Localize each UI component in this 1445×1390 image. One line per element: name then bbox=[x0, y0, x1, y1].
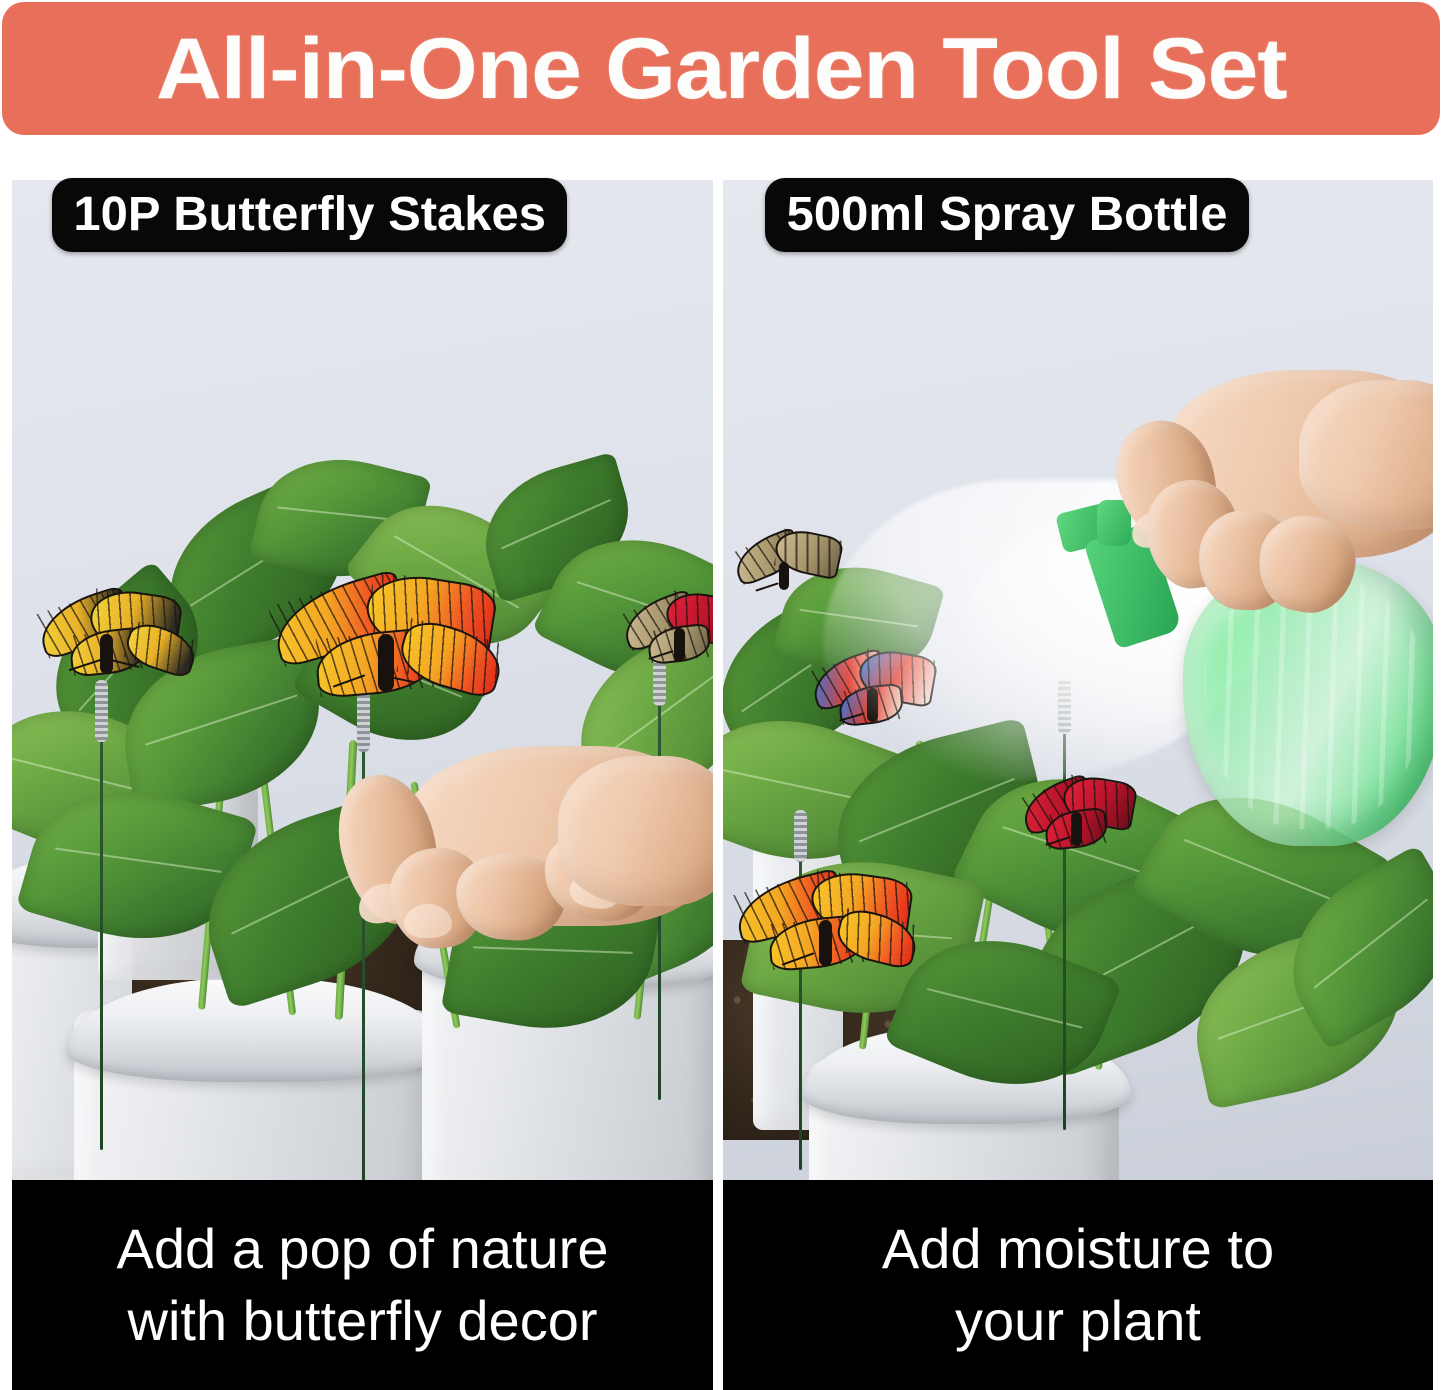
butterfly-yellow bbox=[34, 590, 204, 700]
panel-row: 10P Butterfly Stakes Add a pop of nature… bbox=[0, 150, 1445, 1390]
photo-butterfly-stakes bbox=[12, 180, 713, 1180]
caption-butterfly-stakes: Add a pop of nature with butterfly decor bbox=[12, 1180, 713, 1390]
stake-coil bbox=[794, 810, 807, 862]
header-banner: All-in-One Garden Tool Set bbox=[2, 2, 1440, 135]
caption-line-2: your plant bbox=[955, 1285, 1201, 1357]
butterfly-orange bbox=[733, 870, 913, 990]
hand-inserting-stake bbox=[308, 736, 713, 1046]
panel-spray-bottle: 500ml Spray Bottle Add moisture to your … bbox=[723, 150, 1433, 1390]
photo-spray-bottle bbox=[723, 180, 1433, 1180]
infographic-page: All-in-One Garden Tool Set bbox=[0, 0, 1445, 1390]
caption-line-1: Add moisture to bbox=[882, 1213, 1274, 1285]
butterfly-pink bbox=[620, 592, 713, 684]
banner-title: All-in-One Garden Tool Set bbox=[156, 26, 1287, 112]
butterfly-orange-main bbox=[270, 572, 500, 722]
caption-line-1: Add a pop of nature bbox=[117, 1213, 609, 1285]
label-pill-spray-bottle: 500ml Spray Bottle bbox=[765, 178, 1249, 252]
stake-wire bbox=[100, 710, 103, 1150]
panel-butterfly-stakes: 10P Butterfly Stakes Add a pop of nature… bbox=[12, 150, 713, 1390]
hand-holding-bottle bbox=[1103, 370, 1433, 670]
label-pill-butterfly-stakes: 10P Butterfly Stakes bbox=[52, 178, 567, 252]
label-text: 500ml Spray Bottle bbox=[787, 191, 1228, 239]
caption-spray-bottle: Add moisture to your plant bbox=[723, 1180, 1433, 1390]
label-text: 10P Butterfly Stakes bbox=[73, 191, 546, 239]
caption-line-2: with butterfly decor bbox=[128, 1285, 598, 1357]
